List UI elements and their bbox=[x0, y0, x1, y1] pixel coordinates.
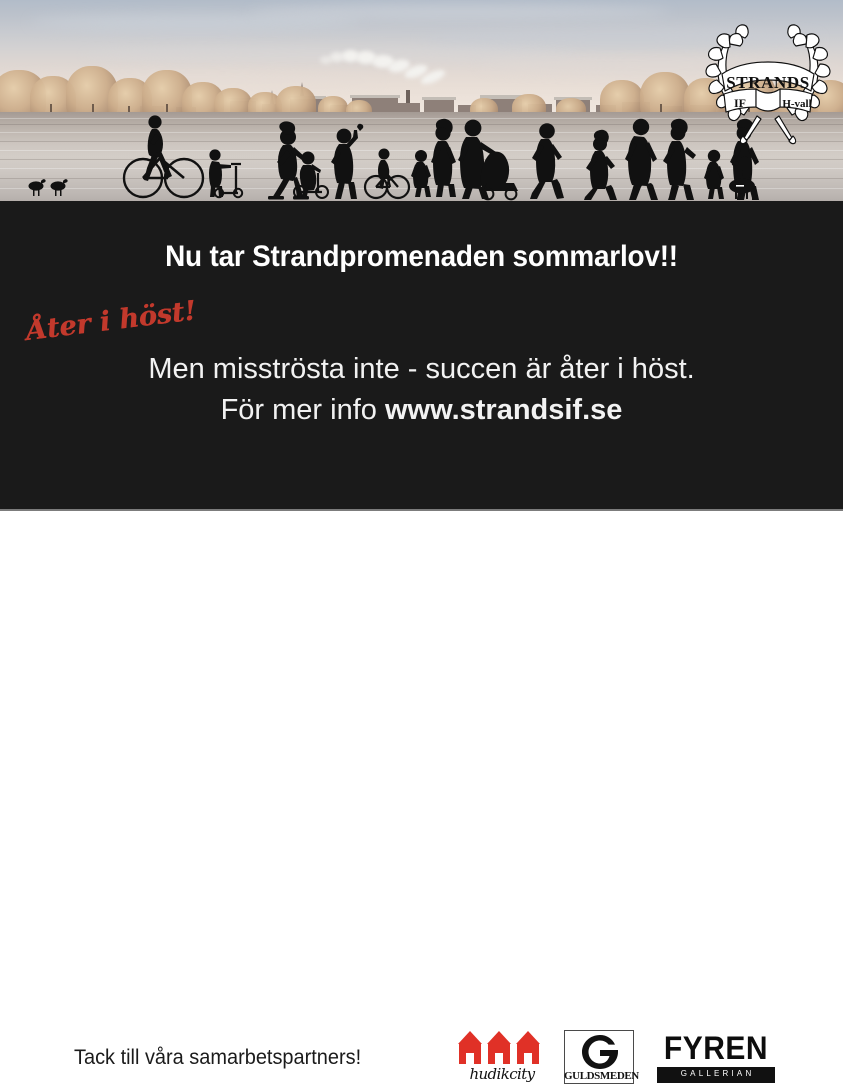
house-door bbox=[524, 1053, 532, 1064]
woman-jogging-silhouette bbox=[584, 130, 617, 200]
sponsor-wordmark-fyren: FYREN bbox=[655, 1031, 777, 1068]
house-door bbox=[466, 1053, 474, 1064]
cyclist-silhouette bbox=[124, 115, 203, 197]
sponsor-wordmark-hudikcity: hudikcity bbox=[459, 1065, 545, 1083]
strands-if-club-logo: STRANDS IF H-vall bbox=[700, 22, 836, 146]
club-logo-left-text: IF bbox=[734, 96, 746, 110]
jogger-silhouette-1 bbox=[530, 123, 564, 199]
thanks-partners-label: Tack till våra samarbetspartners! bbox=[74, 1046, 361, 1070]
website-url[interactable]: www.strandsif.se bbox=[385, 394, 622, 426]
duck-silhouette-1 bbox=[29, 179, 46, 196]
club-logo-banner-text: STRANDS bbox=[726, 73, 810, 92]
sponsor-footer: Tack till våra samarbetspartners! hudikc… bbox=[0, 511, 843, 580]
sponsor-logo-guldsmeden[interactable]: GULDSMEDEN bbox=[564, 1030, 636, 1086]
house-icon bbox=[517, 1043, 539, 1064]
child-walking-silhouette-2 bbox=[704, 150, 724, 199]
man-walking-silhouette bbox=[625, 119, 658, 200]
house-door bbox=[495, 1053, 503, 1064]
sponsor-wordmark-guldsmeden: GULDSMEDEN bbox=[564, 1070, 634, 1082]
duck-silhouette-2 bbox=[51, 179, 68, 196]
scooter-child-silhouette bbox=[209, 149, 242, 197]
stroller-adult-silhouette bbox=[458, 120, 518, 200]
waving-person-silhouette bbox=[331, 124, 363, 199]
house-icon bbox=[488, 1043, 510, 1064]
fyren-subtitle-bar: GALLERIAN bbox=[657, 1067, 775, 1083]
guldsmeden-g-monogram bbox=[582, 1035, 618, 1069]
sponsor-subtitle-gallerian: GALLERIAN bbox=[657, 1069, 775, 1078]
poster-root: STRANDS IF H-vall Nu tar Strandpromenade… bbox=[0, 0, 843, 580]
child-bicycle-silhouette bbox=[365, 149, 409, 199]
woman-walking-silhouette-1 bbox=[431, 119, 456, 197]
more-info-label: För mer info bbox=[221, 394, 385, 426]
subheadline-line-1: Men misströsta inte - succen är åter i h… bbox=[0, 353, 843, 386]
house-icon bbox=[459, 1043, 481, 1064]
sponsor-logo-fyren-gallerian[interactable]: FYREN GALLERIAN bbox=[655, 1031, 777, 1083]
photo-banner: STRANDS IF H-vall bbox=[0, 0, 843, 201]
sponsor-logo-hudikcity[interactable]: hudikcity bbox=[458, 1029, 544, 1089]
subheadline-line-2: För mer info www.strandsif.se bbox=[0, 394, 843, 427]
page-title: Nu tar Strandpromenaden sommarlov!! bbox=[30, 240, 814, 274]
club-logo-right-text: H-vall bbox=[782, 98, 811, 110]
child-walking-silhouette bbox=[411, 150, 431, 197]
woman-walking-silhouette-2 bbox=[663, 119, 696, 200]
